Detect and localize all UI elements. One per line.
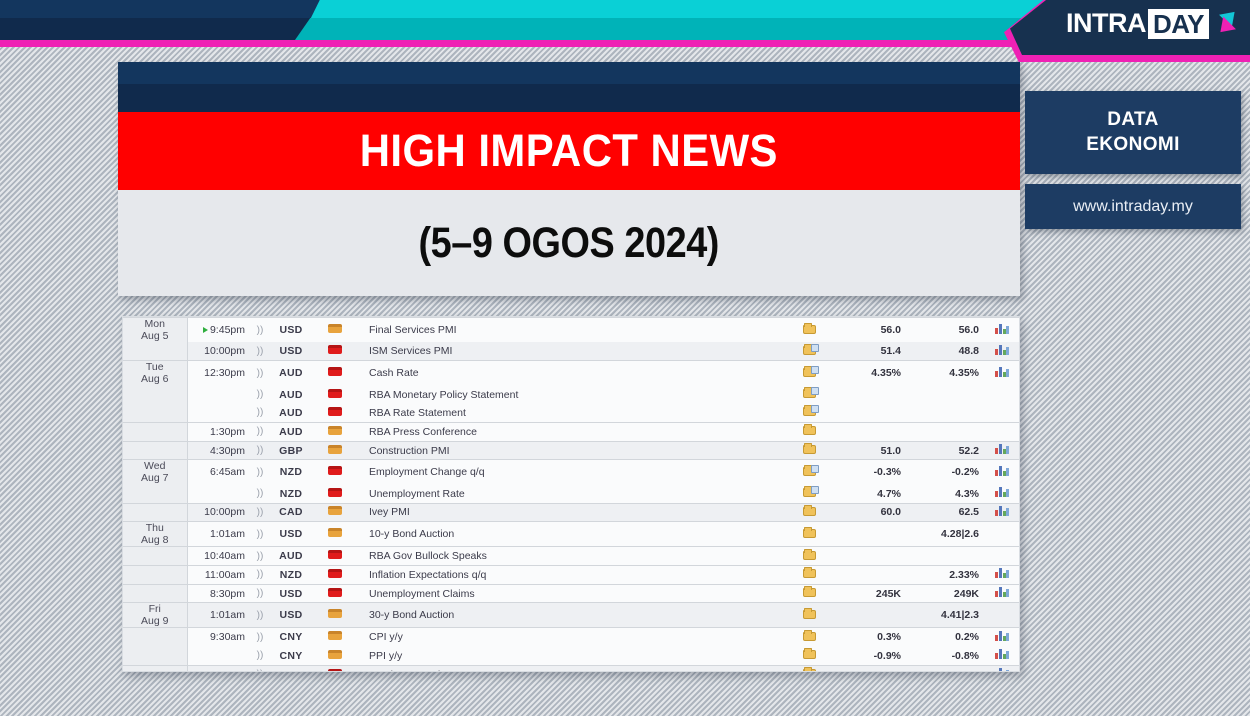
cell-day <box>123 423 187 442</box>
title-card-navy-bar <box>118 62 1020 112</box>
cell-event[interactable]: RBA Monetary Policy Statement <box>359 385 789 404</box>
cell-time: 11:00am <box>187 566 249 585</box>
detail-folder-icon[interactable] <box>803 631 816 641</box>
brand-logo-plate: INTRA DAY <box>1004 0 1250 62</box>
speaker-icon[interactable]: )) <box>249 318 271 343</box>
cell-impact <box>311 628 359 647</box>
detail-folder-icon[interactable] <box>803 506 816 516</box>
cell-day: MonAug 5 <box>123 318 187 343</box>
cell-time: 12:30pm <box>187 361 249 386</box>
detail-folder-notes-icon[interactable] <box>803 406 816 416</box>
day-name: Tue <box>146 361 164 373</box>
detail-folder-icon[interactable] <box>803 587 816 597</box>
cell-graph[interactable] <box>985 318 1019 343</box>
cell-event[interactable]: RBA Rate Statement <box>359 404 789 423</box>
title-card-navy-dark-bar <box>118 84 1020 112</box>
cell-forecast: -0.8% <box>907 647 985 666</box>
cell-actual <box>829 665 907 672</box>
detail-folder-icon[interactable] <box>803 550 816 560</box>
bar-chart-icon[interactable] <box>995 324 1009 334</box>
cell-detail[interactable] <box>789 566 829 585</box>
calendar-table: MonAug 59:45pm))USDFinal Services PMI56.… <box>123 317 1019 672</box>
table-row[interactable]: ))NZDUnemployment Rate4.7%4.3% <box>123 484 1019 503</box>
cell-actual: 51.4 <box>829 342 907 361</box>
cell-event[interactable]: ISM Services PMI <box>359 342 789 361</box>
table-row[interactable]: 1:30pm))AUDRBA Press Conference <box>123 423 1019 442</box>
logo-intra-text: INTRA <box>1066 8 1146 39</box>
detail-folder-icon[interactable] <box>803 649 816 659</box>
impact-medium-icon <box>328 528 342 537</box>
cell-actual <box>829 603 907 628</box>
logo-day-text: DAY <box>1148 9 1209 39</box>
cell-graph[interactable] <box>985 566 1019 585</box>
cell-impact <box>311 460 359 485</box>
speaker-icon[interactable]: )) <box>249 423 271 442</box>
cell-currency: USD <box>271 522 311 547</box>
cell-time: 10:00pm <box>187 503 249 522</box>
table-row[interactable]: MonAug 59:45pm))USDFinal Services PMI56.… <box>123 318 1019 343</box>
table-row[interactable]: FriAug 91:01am))USD30-y Bond Auction4.41… <box>123 603 1019 628</box>
cell-event[interactable]: Unemployment Rate <box>359 484 789 503</box>
detail-folder-notes-icon[interactable] <box>803 487 816 497</box>
cell-event[interactable]: 30-y Bond Auction <box>359 603 789 628</box>
day-name: Mon <box>145 318 165 330</box>
logo-arrows <box>1214 10 1240 38</box>
impact-high-icon <box>328 345 342 354</box>
cell-graph[interactable] <box>985 361 1019 386</box>
day-date: Aug 7 <box>141 472 168 484</box>
cell-detail[interactable] <box>789 647 829 666</box>
impact-high-icon <box>328 466 342 475</box>
cell-graph[interactable] <box>985 665 1019 672</box>
cell-forecast <box>907 547 985 566</box>
cell-forecast <box>907 385 985 404</box>
title-card-red-bar: HIGH IMPACT NEWS <box>118 112 1020 190</box>
impact-medium-icon <box>328 426 342 435</box>
cell-time: 8:30pm <box>187 584 249 603</box>
banner-navy-dark-block <box>0 18 316 40</box>
table-row[interactable]: 11:00am))NZDInflation Expectations q/q2.… <box>123 566 1019 585</box>
cell-actual: 56.0 <box>829 318 907 343</box>
cell-detail[interactable] <box>789 628 829 647</box>
cell-detail[interactable] <box>789 503 829 522</box>
bar-chart-icon[interactable] <box>995 466 1009 476</box>
cell-impact <box>311 404 359 423</box>
cell-detail[interactable] <box>789 385 829 404</box>
detail-folder-icon[interactable] <box>803 609 816 619</box>
cell-detail[interactable] <box>789 460 829 485</box>
detail-folder-icon[interactable] <box>803 444 816 454</box>
cell-forecast: 4.3% <box>907 484 985 503</box>
speaker-icon[interactable]: )) <box>249 342 271 361</box>
cell-day: FriAug 9 <box>123 603 187 628</box>
cell-detail[interactable] <box>789 522 829 547</box>
cell-day <box>123 628 187 647</box>
cell-impact <box>311 385 359 404</box>
cell-impact <box>311 522 359 547</box>
speaker-icon[interactable]: )) <box>249 566 271 585</box>
cell-impact <box>311 484 359 503</box>
bar-chart-icon[interactable] <box>995 345 1009 355</box>
cell-impact <box>311 342 359 361</box>
table-row[interactable]: ThuAug 81:01am))USD10-y Bond Auction4.28… <box>123 522 1019 547</box>
speaker-icon[interactable]: )) <box>249 628 271 647</box>
cell-day <box>123 665 187 672</box>
cell-time <box>187 385 249 404</box>
cell-event[interactable]: Unemployment Claims <box>359 584 789 603</box>
cell-day <box>123 404 187 423</box>
cell-impact <box>311 361 359 386</box>
cell-detail[interactable] <box>789 584 829 603</box>
impact-medium-icon <box>328 445 342 454</box>
impact-high-icon <box>328 550 342 559</box>
cell-time <box>187 647 249 666</box>
cell-forecast: 4.35% <box>907 361 985 386</box>
bar-chart-icon[interactable] <box>995 649 1009 659</box>
cell-forecast: 56.0 <box>907 318 985 343</box>
cell-currency: CNY <box>271 628 311 647</box>
bar-chart-icon[interactable] <box>995 367 1009 377</box>
cell-graph[interactable] <box>985 342 1019 361</box>
cell-forecast: -1.4K <box>907 665 985 672</box>
impact-medium-icon <box>328 324 342 333</box>
impact-medium-icon <box>328 609 342 618</box>
day-date: Aug 8 <box>141 534 168 546</box>
cell-actual <box>829 423 907 442</box>
detail-folder-icon[interactable] <box>803 568 816 578</box>
cell-actual <box>829 547 907 566</box>
cell-day: WedAug 7 <box>123 460 187 485</box>
cell-impact <box>311 665 359 672</box>
cell-currency: AUD <box>271 385 311 404</box>
cell-impact <box>311 547 359 566</box>
cell-graph[interactable] <box>985 484 1019 503</box>
bar-chart-icon[interactable] <box>995 506 1009 516</box>
detail-folder-icon[interactable] <box>803 425 816 435</box>
cell-currency: USD <box>271 318 311 343</box>
detail-folder-icon[interactable] <box>803 324 816 334</box>
cell-detail[interactable] <box>789 484 829 503</box>
cell-event[interactable]: RBA Gov Bullock Speaks <box>359 547 789 566</box>
cell-event[interactable]: Final Services PMI <box>359 318 789 343</box>
speaker-icon[interactable]: )) <box>249 547 271 566</box>
cell-graph[interactable] <box>985 584 1019 603</box>
cell-graph[interactable] <box>985 423 1019 442</box>
cell-time <box>187 404 249 423</box>
cell-event[interactable]: CPI y/y <box>359 628 789 647</box>
table-row[interactable]: 10:00pm))USDISM Services PMI51.448.8 <box>123 342 1019 361</box>
cell-day <box>123 647 187 666</box>
cell-actual: 4.7% <box>829 484 907 503</box>
cell-currency: NZD <box>271 484 311 503</box>
cell-actual: -0.9% <box>829 647 907 666</box>
brand-logo: INTRA DAY <box>1066 8 1240 39</box>
cell-time: 9:45pm <box>187 318 249 343</box>
table-row[interactable]: 10:40am))AUDRBA Gov Bullock Speaks <box>123 547 1019 566</box>
detail-folder-icon[interactable] <box>803 668 816 672</box>
cell-impact <box>311 503 359 522</box>
cell-forecast: 0.2% <box>907 628 985 647</box>
table-row[interactable]: ))AUDRBA Monetary Policy Statement <box>123 385 1019 404</box>
day-name: Wed <box>144 460 165 472</box>
speaker-icon[interactable]: )) <box>249 665 271 672</box>
cell-time: 1:01am <box>187 522 249 547</box>
cell-actual <box>829 566 907 585</box>
data-ekonomi-panel: DATA EKONOMI <box>1025 91 1241 174</box>
impact-medium-icon <box>328 650 342 659</box>
table-row[interactable]: ))CNYPPI y/y-0.9%-0.8% <box>123 647 1019 666</box>
detail-folder-notes-icon[interactable] <box>803 388 816 398</box>
cell-detail[interactable] <box>789 361 829 386</box>
cell-impact <box>311 441 359 460</box>
cell-currency: NZD <box>271 566 311 585</box>
cell-impact <box>311 584 359 603</box>
detail-folder-notes-icon[interactable] <box>803 466 816 476</box>
cell-event[interactable]: Employment Change <box>359 665 789 672</box>
impact-high-icon <box>328 367 342 376</box>
impact-high-icon <box>328 669 342 672</box>
impact-high-icon <box>328 488 342 497</box>
cell-event[interactable]: Inflation Expectations q/q <box>359 566 789 585</box>
speaker-icon[interactable]: )) <box>249 484 271 503</box>
cell-forecast <box>907 404 985 423</box>
cell-event[interactable]: Construction PMI <box>359 441 789 460</box>
cell-impact <box>311 423 359 442</box>
table-row[interactable]: 8:30pm))USDUnemployment Claims245K249K <box>123 584 1019 603</box>
cell-currency: NZD <box>271 460 311 485</box>
cell-time: 1:30pm <box>187 423 249 442</box>
panel-title-line2: EKONOMI <box>1086 134 1180 156</box>
cell-actual: 51.0 <box>829 441 907 460</box>
impact-medium-icon <box>328 506 342 515</box>
cell-impact <box>311 566 359 585</box>
cell-impact <box>311 318 359 343</box>
cell-event[interactable]: Employment Change q/q <box>359 460 789 485</box>
cell-forecast: 2.33% <box>907 566 985 585</box>
cell-graph[interactable] <box>985 628 1019 647</box>
cell-graph[interactable] <box>985 547 1019 566</box>
speaker-icon[interactable]: )) <box>249 441 271 460</box>
cell-detail[interactable] <box>789 342 829 361</box>
website-url: www.intraday.my <box>1073 198 1193 216</box>
impact-medium-icon <box>328 631 342 640</box>
cell-event[interactable]: RBA Press Conference <box>359 423 789 442</box>
cell-currency: AUD <box>271 547 311 566</box>
speaker-icon[interactable]: )) <box>249 503 271 522</box>
cell-forecast: -0.2% <box>907 460 985 485</box>
speaker-icon[interactable]: )) <box>249 460 271 485</box>
cell-time: 10:00pm <box>187 342 249 361</box>
cell-graph[interactable] <box>985 404 1019 423</box>
impact-high-icon <box>328 588 342 597</box>
cell-graph[interactable] <box>985 522 1019 547</box>
cell-detail[interactable] <box>789 665 829 672</box>
cell-actual: 245K <box>829 584 907 603</box>
cell-detail[interactable] <box>789 318 829 343</box>
bar-chart-icon[interactable] <box>995 668 1009 672</box>
cell-currency: GBP <box>271 441 311 460</box>
bar-chart-icon[interactable] <box>995 444 1009 454</box>
cell-event[interactable]: Ivey PMI <box>359 503 789 522</box>
cell-day <box>123 441 187 460</box>
speaker-icon[interactable]: )) <box>249 584 271 603</box>
detail-folder-notes-icon[interactable] <box>803 367 816 377</box>
cell-detail[interactable] <box>789 547 829 566</box>
title-card: HIGH IMPACT NEWS (5–9 OGOS 2024) <box>118 62 1020 296</box>
table-row[interactable]: 10:00pm))CADIvey PMI60.062.5 <box>123 503 1019 522</box>
cell-actual <box>829 404 907 423</box>
cell-day: ThuAug 8 <box>123 522 187 547</box>
cell-currency: AUD <box>271 423 311 442</box>
detail-folder-notes-icon[interactable] <box>803 345 816 355</box>
speaker-icon[interactable]: )) <box>249 404 271 423</box>
detail-folder-icon[interactable] <box>803 528 816 538</box>
bar-chart-icon[interactable] <box>995 631 1009 641</box>
cell-day <box>123 503 187 522</box>
day-date: Aug 6 <box>141 373 168 385</box>
cell-detail[interactable] <box>789 423 829 442</box>
cell-event[interactable]: Cash Rate <box>359 361 789 386</box>
cell-time: 6:45am <box>187 460 249 485</box>
cell-actual: 4.35% <box>829 361 907 386</box>
cell-currency: CAD <box>271 503 311 522</box>
cell-graph[interactable] <box>985 460 1019 485</box>
cell-currency: CNY <box>271 647 311 666</box>
cell-event[interactable]: PPI y/y <box>359 647 789 666</box>
cell-day <box>123 584 187 603</box>
website-panel[interactable]: www.intraday.my <box>1025 184 1241 229</box>
impact-high-icon <box>328 569 342 578</box>
impact-high-icon <box>328 389 342 398</box>
cell-currency: AUD <box>271 404 311 423</box>
cell-detail[interactable] <box>789 404 829 423</box>
cell-forecast: 62.5 <box>907 503 985 522</box>
cell-day: TueAug 6 <box>123 361 187 386</box>
bar-chart-icon[interactable] <box>995 568 1009 578</box>
cell-time: 9:30am <box>187 628 249 647</box>
cell-graph[interactable] <box>985 603 1019 628</box>
cell-time <box>187 484 249 503</box>
bar-chart-icon[interactable] <box>995 487 1009 497</box>
table-row[interactable]: WedAug 76:45am))NZDEmployment Change q/q… <box>123 460 1019 485</box>
cell-day <box>123 342 187 361</box>
cell-forecast: 52.2 <box>907 441 985 460</box>
bar-chart-icon[interactable] <box>995 587 1009 597</box>
cell-time: 8:30pm <box>187 665 249 672</box>
day-name: Thu <box>146 522 164 534</box>
cell-day <box>123 547 187 566</box>
cell-graph[interactable] <box>985 503 1019 522</box>
cell-impact <box>311 603 359 628</box>
speaker-icon[interactable]: )) <box>249 603 271 628</box>
page-subtitle: (5–9 OGOS 2024) <box>419 219 719 268</box>
cell-graph[interactable] <box>985 385 1019 404</box>
cell-currency: USD <box>271 342 311 361</box>
cell-actual: 0.3% <box>829 628 907 647</box>
speaker-icon[interactable]: )) <box>249 522 271 547</box>
cell-detail[interactable] <box>789 441 829 460</box>
cell-currency: AUD <box>271 361 311 386</box>
cell-actual <box>829 385 907 404</box>
table-row[interactable]: 4:30pm))GBPConstruction PMI51.052.2 <box>123 441 1019 460</box>
cell-forecast: 249K <box>907 584 985 603</box>
impact-high-icon <box>328 407 342 416</box>
table-row[interactable]: 8:30pm))CADEmployment Change-1.4K <box>123 665 1019 672</box>
now-marker-icon <box>203 327 208 333</box>
table-row[interactable]: 9:30am))CNYCPI y/y0.3%0.2% <box>123 628 1019 647</box>
speaker-icon[interactable]: )) <box>249 647 271 666</box>
day-date: Aug 9 <box>141 615 168 627</box>
cell-day <box>123 484 187 503</box>
cell-actual: 60.0 <box>829 503 907 522</box>
cell-time: 4:30pm <box>187 441 249 460</box>
cell-graph[interactable] <box>985 647 1019 666</box>
day-name: Fri <box>149 603 161 615</box>
cell-time: 1:01am <box>187 603 249 628</box>
cell-actual <box>829 522 907 547</box>
speaker-icon[interactable]: )) <box>249 361 271 386</box>
day-date: Aug 5 <box>141 330 168 342</box>
cell-currency: CAD <box>271 665 311 672</box>
table-row[interactable]: ))AUDRBA Rate Statement <box>123 404 1019 423</box>
cell-detail[interactable] <box>789 603 829 628</box>
cell-currency: USD <box>271 603 311 628</box>
banner-cyan-dark-block <box>295 18 1060 40</box>
panel-title-line1: DATA <box>1107 109 1159 131</box>
page-title: HIGH IMPACT NEWS <box>360 125 778 177</box>
cell-time: 10:40am <box>187 547 249 566</box>
title-card-subtitle-bar: (5–9 OGOS 2024) <box>118 190 1020 296</box>
cell-actual: -0.3% <box>829 460 907 485</box>
table-row[interactable]: TueAug 612:30pm))AUDCash Rate4.35%4.35% <box>123 361 1019 386</box>
cell-day <box>123 385 187 404</box>
cell-graph[interactable] <box>985 441 1019 460</box>
cell-forecast <box>907 423 985 442</box>
speaker-icon[interactable]: )) <box>249 385 271 404</box>
cell-impact <box>311 647 359 666</box>
cell-forecast: 4.41|2.3 <box>907 603 985 628</box>
economic-calendar[interactable]: MonAug 59:45pm))USDFinal Services PMI56.… <box>122 316 1020 672</box>
cell-currency: USD <box>271 584 311 603</box>
cell-event[interactable]: 10-y Bond Auction <box>359 522 789 547</box>
cell-forecast: 4.28|2.6 <box>907 522 985 547</box>
cell-forecast: 48.8 <box>907 342 985 361</box>
cell-day <box>123 566 187 585</box>
